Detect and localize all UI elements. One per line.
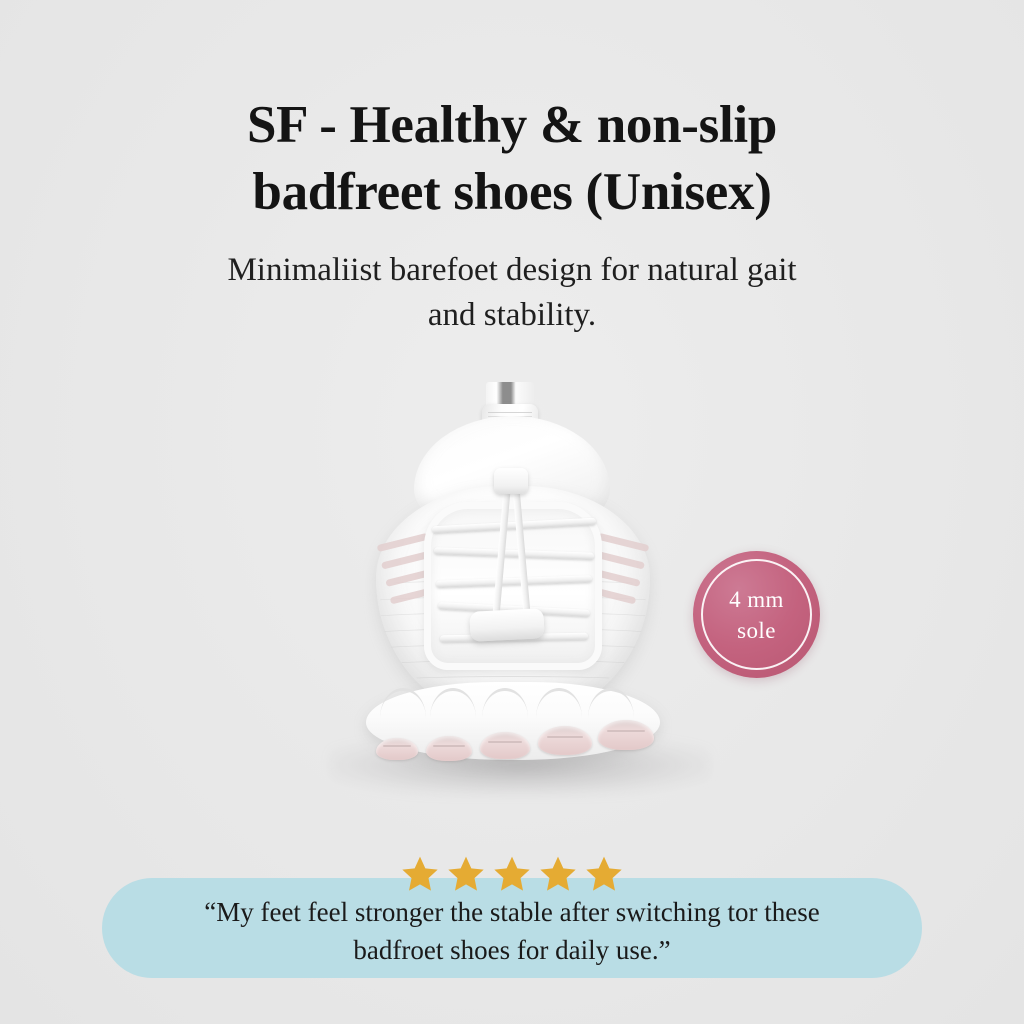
sole-thickness-badge: 4 mm sole: [693, 551, 820, 678]
lace-clip: [469, 608, 544, 642]
page-title: SF - Healthy & non-slip badfreet shoes (…: [0, 92, 1024, 226]
page-title-line-1: SF - Healthy & non-slip: [0, 92, 1024, 159]
star-icon: [492, 854, 532, 894]
testimonial-quote-line-2: badfroet shoes for daily use.”: [132, 931, 892, 969]
shoe-illustration: [358, 382, 668, 782]
toe-pod: [538, 726, 592, 755]
star-rating: [0, 854, 1024, 894]
page-subtitle: Minimaliist barefoet design for natural …: [0, 248, 1024, 338]
product-poster: SF - Healthy & non-slip badfreet shoes (…: [0, 0, 1024, 1024]
product-image: [280, 360, 750, 810]
badge-label-line-1: 4 mm: [729, 584, 784, 615]
testimonial-quote: “My feet feel stronger the stable after …: [132, 887, 892, 969]
page-title-line-2: badfreet shoes (Unisex): [0, 159, 1024, 226]
heel-pull-tab-stripe: [486, 382, 534, 406]
page-subtitle-line-1: Minimaliist barefoet design for natural …: [0, 248, 1024, 293]
badge-label-line-2: sole: [729, 615, 784, 646]
star-icon: [400, 854, 440, 894]
testimonial-quote-line-1: “My feet feel stronger the stable after …: [132, 893, 892, 931]
star-icon: [538, 854, 578, 894]
toe-pod: [426, 736, 472, 761]
badge-label: 4 mm sole: [729, 584, 784, 646]
toe-pod: [598, 720, 654, 750]
toe-pod: [376, 738, 418, 760]
lace-lock-toggle: [494, 468, 528, 494]
star-icon: [446, 854, 486, 894]
star-icon: [584, 854, 624, 894]
toe-pod: [480, 732, 530, 759]
page-subtitle-line-2: and stability.: [0, 293, 1024, 338]
